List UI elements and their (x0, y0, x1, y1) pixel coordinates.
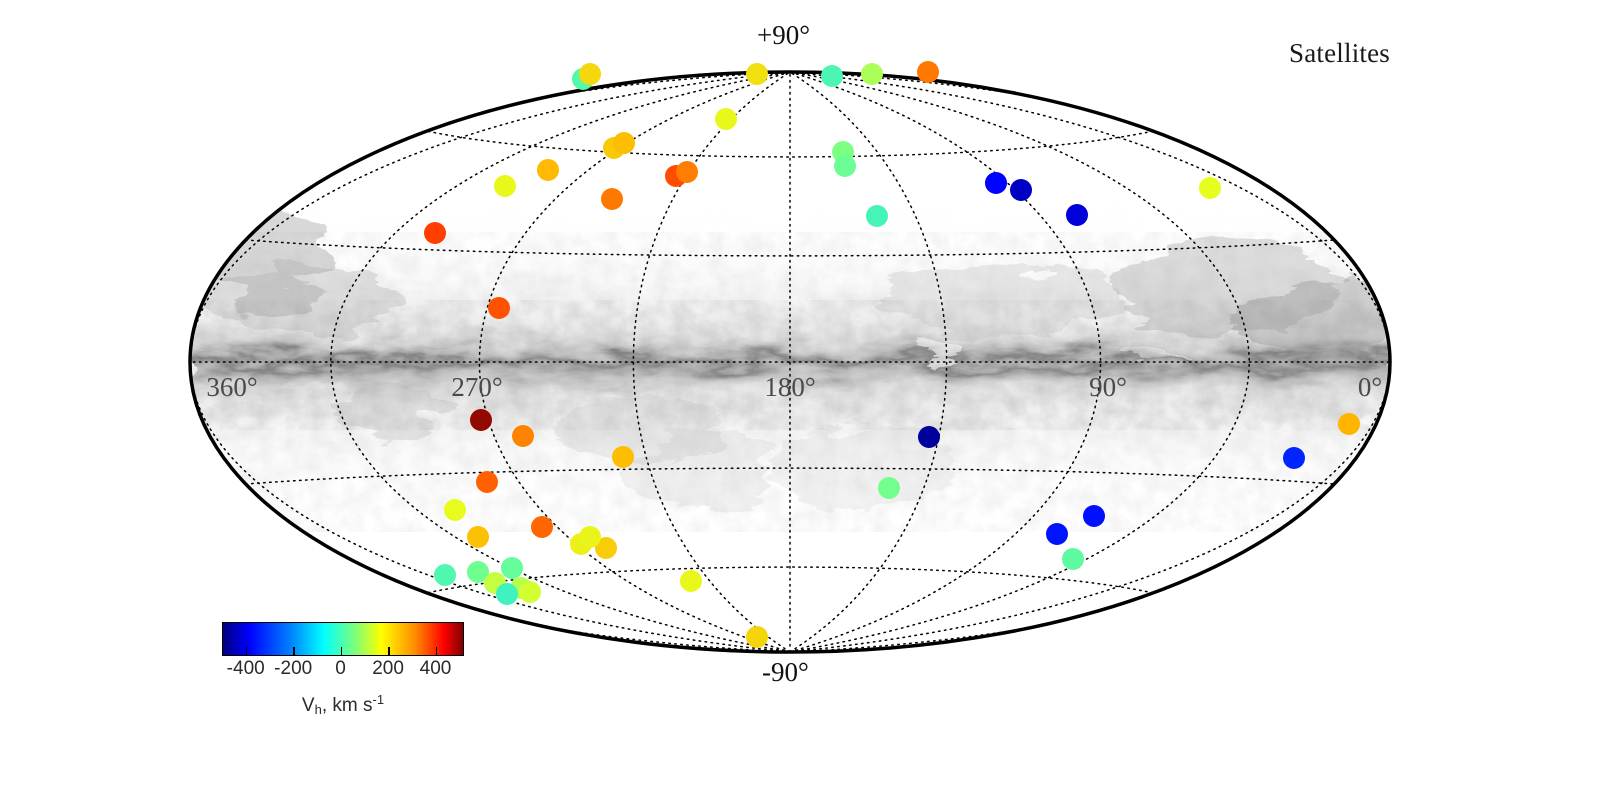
satellite-marker (613, 132, 635, 154)
satellite-marker (676, 161, 698, 183)
colorbar-tick-label: 200 (372, 658, 404, 680)
longitude-label: 90° (1089, 372, 1127, 402)
colorbar-tick (341, 647, 343, 656)
colorbar-tick (246, 647, 248, 656)
satellite-marker (1083, 505, 1105, 527)
satellite-marker (680, 570, 702, 592)
satellite-marker (601, 188, 623, 210)
colorbar-tick (388, 647, 390, 656)
satellite-marker (1062, 548, 1084, 570)
figure-title: Satellites (1289, 38, 1390, 69)
satellite-marker (1046, 523, 1068, 545)
satellite-marker (1010, 179, 1032, 201)
satellite-marker (746, 626, 768, 648)
satellite-marker (878, 477, 900, 499)
longitude-label: 0° (1358, 372, 1382, 402)
colorbar: -400-2000200400 (222, 622, 464, 684)
satellite-marker (512, 425, 534, 447)
colorbar-caption-subscript: h (315, 702, 322, 717)
colorbar-tick-label: 0 (335, 658, 346, 680)
satellite-marker (424, 222, 446, 244)
colorbar-tick-labels: -400-2000200400 (222, 658, 464, 684)
satellite-marker (470, 409, 492, 431)
satellite-marker (501, 557, 523, 579)
colorbar-tick (436, 647, 438, 656)
satellite-marker (444, 499, 466, 521)
south-pole-label: -90° (762, 657, 809, 688)
satellite-marker (434, 564, 456, 586)
colorbar-caption: Vh, km s-1 (222, 692, 464, 717)
satellite-marker (821, 65, 843, 87)
satellite-marker (496, 583, 518, 605)
satellite-marker (476, 471, 498, 493)
satellite-marker (537, 159, 559, 181)
longitude-label: 270° (451, 372, 502, 402)
colorbar-caption-symbol: V (302, 695, 315, 716)
satellite-marker (985, 172, 1007, 194)
colorbar-tick (293, 647, 295, 656)
satellite-marker (1338, 413, 1360, 435)
colorbar-tick-label: -200 (274, 658, 312, 680)
satellite-marker (1199, 177, 1221, 199)
north-pole-label: +90° (757, 20, 810, 51)
colorbar-tick-label: 400 (420, 658, 452, 680)
satellite-marker (579, 526, 601, 548)
satellite-marker (917, 61, 939, 83)
satellite-marker (1066, 204, 1088, 226)
longitude-label: 360° (206, 372, 257, 402)
satellite-marker (488, 297, 510, 319)
colorbar-caption-exponent: -1 (373, 692, 385, 707)
satellite-marker (834, 155, 856, 177)
satellite-marker (519, 581, 541, 603)
satellite-marker (531, 516, 553, 538)
satellite-marker (494, 175, 516, 197)
colorbar-tick-label: -400 (227, 658, 265, 680)
satellite-marker (918, 426, 940, 448)
satellite-marker (746, 63, 768, 85)
satellite-marker (861, 63, 883, 85)
colorbar-gradient (222, 622, 464, 656)
satellite-marker (579, 63, 601, 85)
satellite-marker (1283, 447, 1305, 469)
satellite-marker (612, 446, 634, 468)
longitude-label: 180° (764, 372, 815, 402)
satellite-marker (866, 205, 888, 227)
satellite-marker (467, 526, 489, 548)
colorbar-caption-unit: , km s (322, 695, 373, 716)
sky-map-figure: 360°270°180°90°0° Satellites +90° -90° -… (0, 0, 1600, 800)
satellite-marker (715, 108, 737, 130)
